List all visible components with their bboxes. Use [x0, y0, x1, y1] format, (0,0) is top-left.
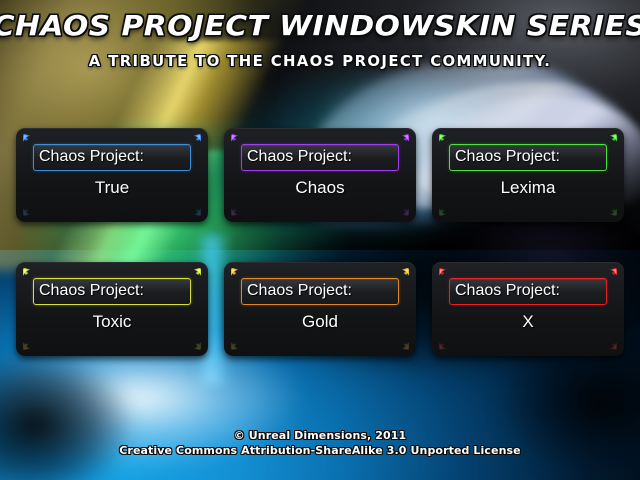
corner-arrow-icon	[193, 207, 202, 217]
corner-arrow-icon	[401, 207, 410, 217]
corner-arrow-icon	[401, 267, 410, 277]
windowskin-field-label: Chaos Project:	[39, 282, 144, 300]
page-subtitle: A TRIBUTE TO THE CHAOS PROJECT COMMUNITY…	[3, 42, 637, 70]
corner-arrow-icon	[438, 207, 447, 217]
windowskin-value: Gold	[241, 312, 399, 332]
corner-arrow-icon	[609, 267, 618, 277]
corner-arrow-icon	[438, 267, 447, 277]
poster-footer: © Unreal Dimensions, 2011 Creative Commo…	[0, 428, 640, 458]
corner-arrow-icon	[22, 133, 31, 143]
windowskin-grid: Chaos Project:TrueChaos Project:ChaosCha…	[16, 128, 624, 356]
corner-arrow-icon	[609, 207, 618, 217]
windowskin-card[interactable]: Chaos Project:X	[432, 262, 624, 356]
corner-arrow-icon	[401, 133, 410, 143]
corner-arrow-icon	[401, 341, 410, 351]
corner-arrow-icon	[609, 341, 618, 351]
corner-arrow-icon	[230, 133, 239, 143]
windowskin-value: Lexima	[449, 178, 607, 198]
background-dark-corner	[0, 340, 150, 480]
windowskin-field-label: Chaos Project:	[39, 148, 144, 166]
windowskin-value: Toxic	[33, 312, 191, 332]
corner-arrow-icon	[230, 267, 239, 277]
corner-arrow-icon	[609, 133, 618, 143]
corner-arrow-icon	[193, 267, 202, 277]
corner-arrow-icon	[193, 341, 202, 351]
windowskin-card[interactable]: Chaos Project:Chaos	[224, 128, 416, 222]
windowskin-card[interactable]: Chaos Project:True	[16, 128, 208, 222]
windowskin-field[interactable]: Chaos Project:	[33, 278, 191, 305]
windowskin-field-label: Chaos Project:	[455, 148, 560, 166]
windowskin-field-label: Chaos Project:	[455, 282, 560, 300]
corner-arrow-icon	[22, 341, 31, 351]
corner-arrow-icon	[22, 267, 31, 277]
license-text: Creative Commons Attribution-ShareAlike …	[0, 443, 640, 458]
corner-arrow-icon	[193, 133, 202, 143]
windowskin-card[interactable]: Chaos Project:Lexima	[432, 128, 624, 222]
windowskin-field[interactable]: Chaos Project:	[241, 278, 399, 305]
copyright-text: © Unreal Dimensions, 2011	[0, 428, 640, 443]
windowskin-value: Chaos	[241, 178, 399, 198]
corner-arrow-icon	[230, 207, 239, 217]
windowskin-card[interactable]: Chaos Project:Toxic	[16, 262, 208, 356]
corner-arrow-icon	[22, 207, 31, 217]
windowskin-field[interactable]: Chaos Project:	[449, 144, 607, 171]
windowskin-field-label: Chaos Project:	[247, 282, 352, 300]
windowskin-field[interactable]: Chaos Project:	[241, 144, 399, 171]
corner-arrow-icon	[438, 341, 447, 351]
windowskin-card[interactable]: Chaos Project:Gold	[224, 262, 416, 356]
windowskin-field[interactable]: Chaos Project:	[33, 144, 191, 171]
windowskin-field[interactable]: Chaos Project:	[449, 278, 607, 305]
page-title: CHAOS PROJECT WINDOWSKIN SERIES	[0, 0, 640, 42]
poster-canvas: CHAOS PROJECT WINDOWSKIN SERIES A TRIBUT…	[0, 0, 640, 480]
windowskin-value: X	[449, 312, 607, 332]
corner-arrow-icon	[230, 341, 239, 351]
windowskin-field-label: Chaos Project:	[247, 148, 352, 166]
poster-header: CHAOS PROJECT WINDOWSKIN SERIES A TRIBUT…	[0, 0, 640, 70]
corner-arrow-icon	[438, 133, 447, 143]
windowskin-value: True	[33, 178, 191, 198]
